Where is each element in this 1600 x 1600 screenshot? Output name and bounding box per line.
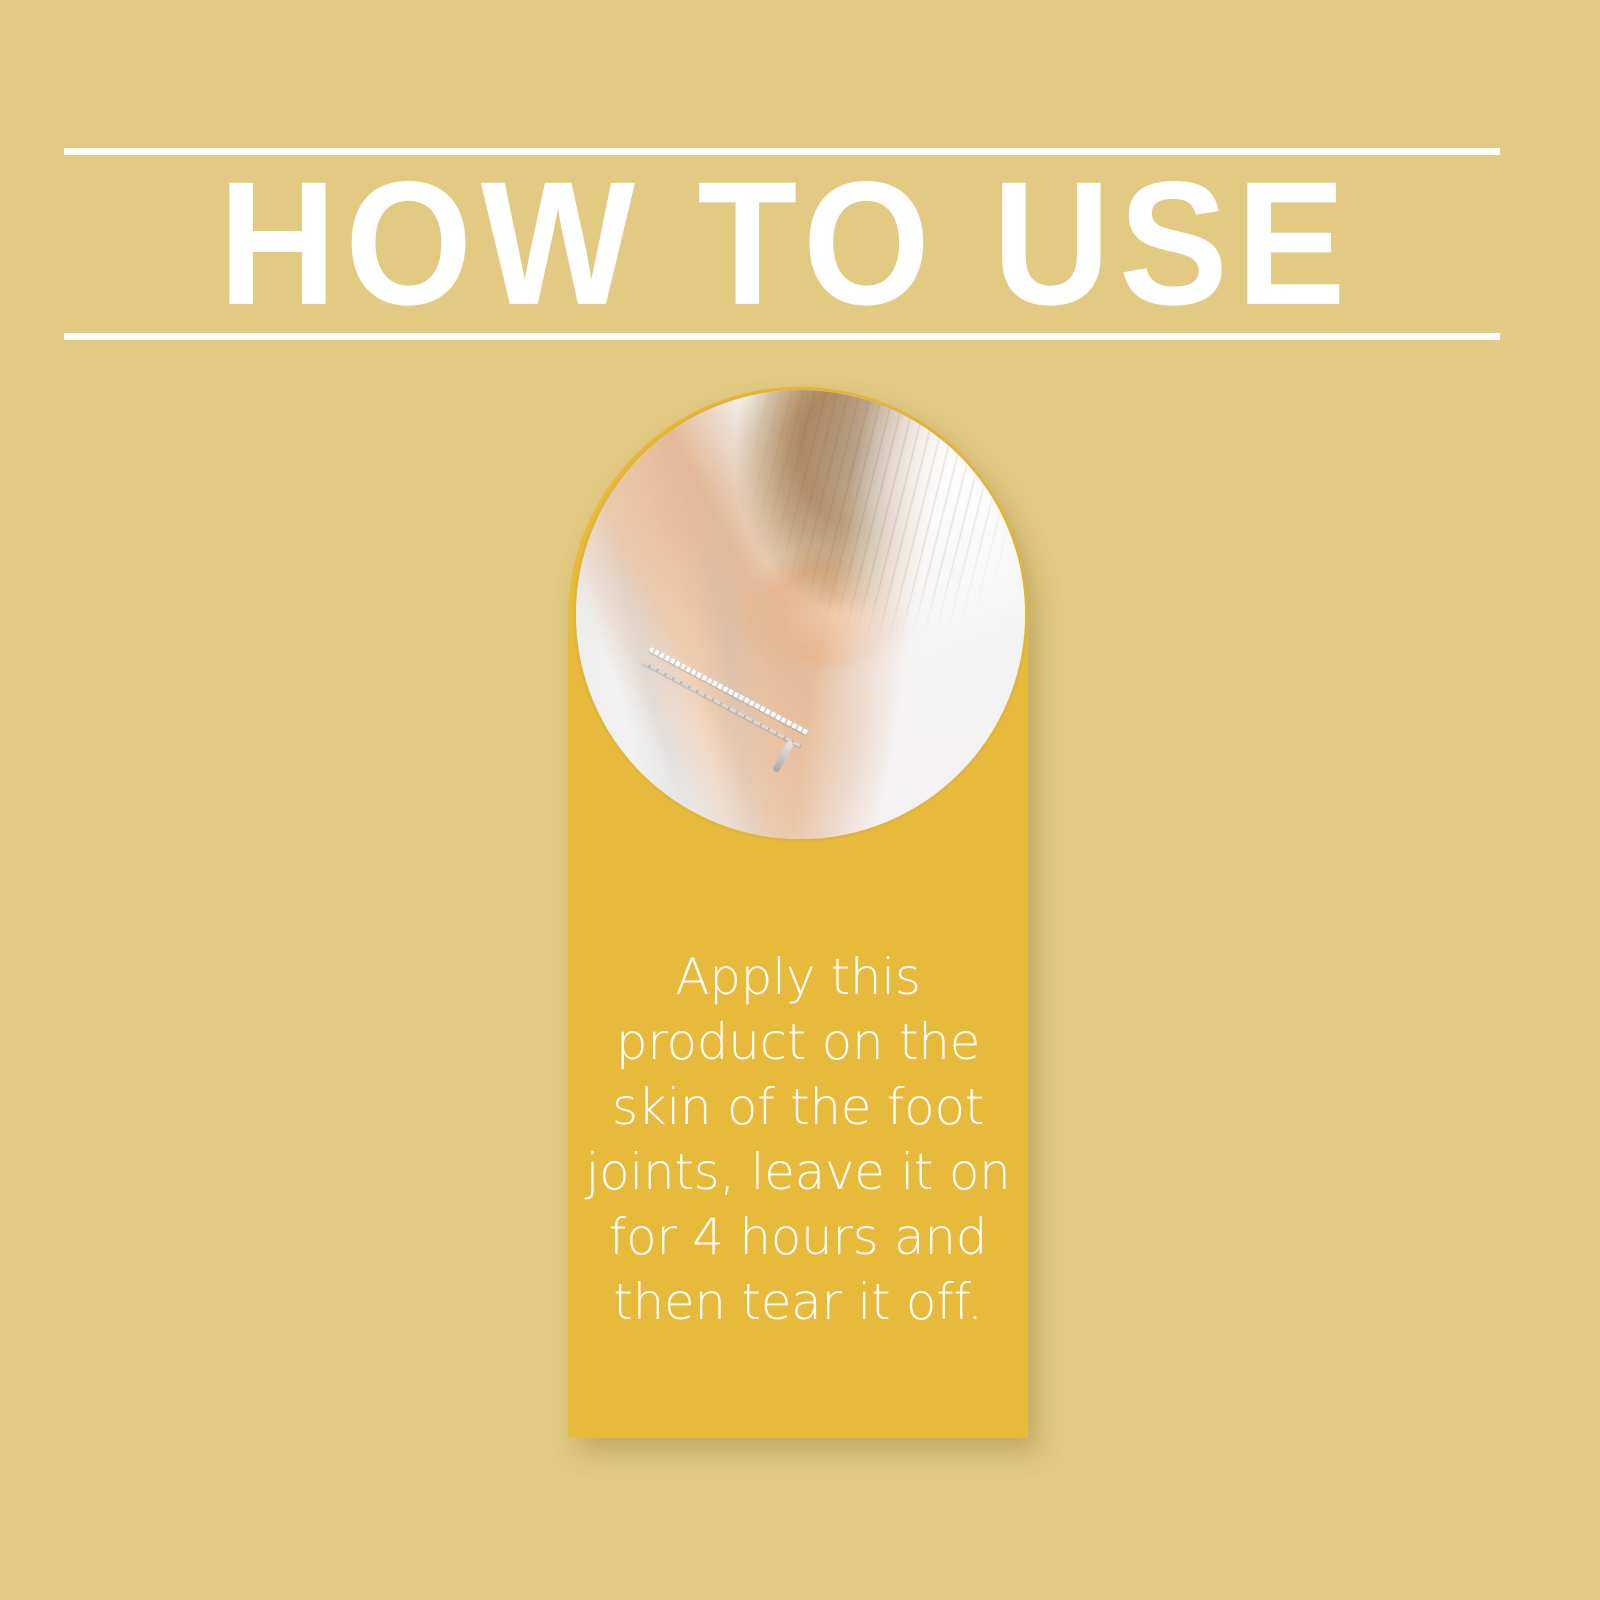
instruction-text: Apply this product on the skin of the fo…: [568, 945, 1028, 1335]
heading-block: HOW TO USE: [64, 148, 1500, 340]
poster-canvas: HOW TO USE Apply this product on the ski…: [0, 0, 1600, 1600]
photo-circle: [573, 387, 1028, 842]
title-rule-bottom: [64, 333, 1500, 340]
page-title: HOW TO USE: [114, 172, 1449, 316]
fabric-folds-overlay: [576, 390, 1025, 839]
